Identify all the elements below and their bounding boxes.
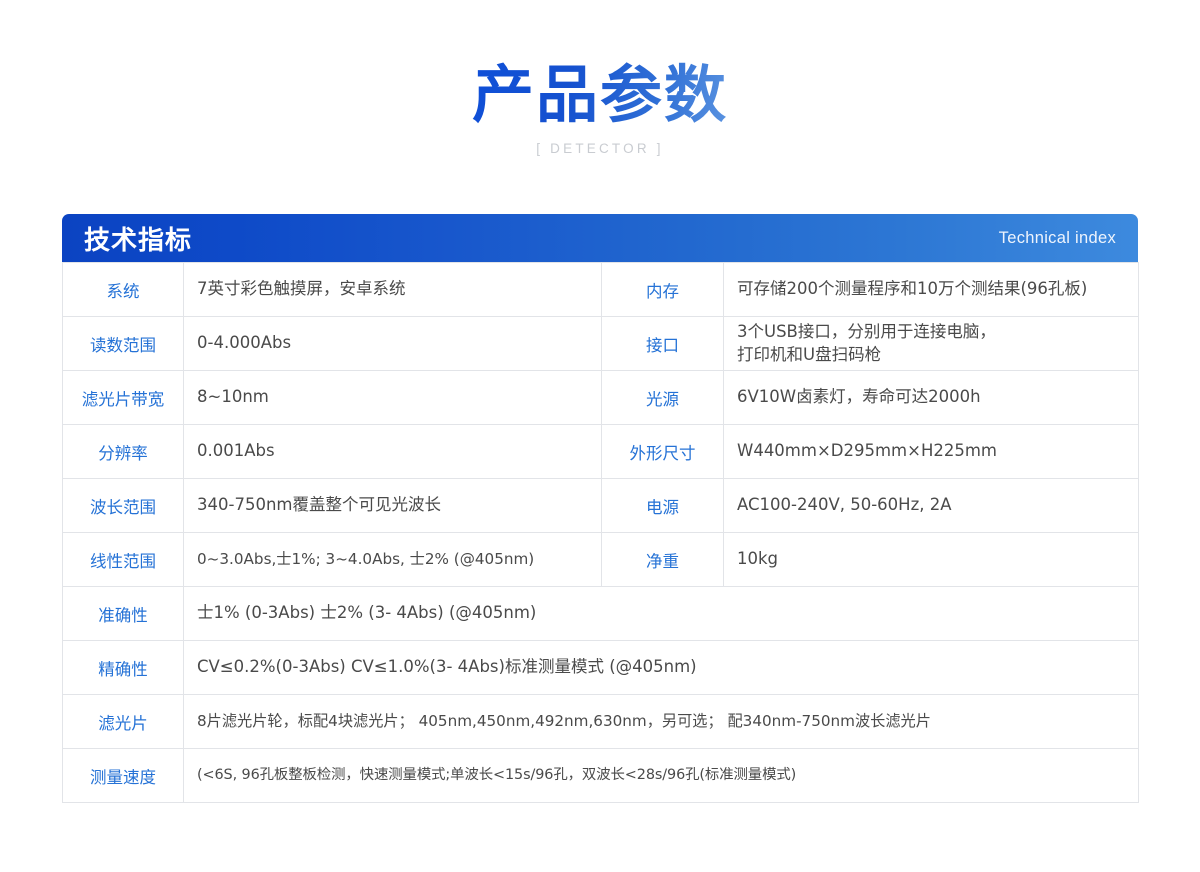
table-row: 线性范围 0~3.0Abs,士1%; 3~4.0Abs, 士2% (@405nm… <box>63 533 1139 587</box>
table-row: 精确性 CV≤0.2%(0-3Abs) CV≤1.0%(3- 4Abs)标准测量… <box>63 641 1139 695</box>
spec-label: 内存 <box>602 263 724 317</box>
spec-value: 8~10nm <box>184 371 602 425</box>
spec-label: 外形尺寸 <box>602 425 724 479</box>
spec-value: (<6S, 96孔板整板检测，快速测量模式;单波长<15s/96孔，双波长<28… <box>184 749 1139 803</box>
spec-table-banner: 技术指标 Technical index <box>62 214 1138 262</box>
spec-value: 0-4.000Abs <box>184 317 602 371</box>
page-title: 产品参数 <box>472 62 728 127</box>
spec-value: AC100-240V, 50-60Hz, 2A <box>724 479 1139 533</box>
table-row: 滤光片 8片滤光片轮，标配4块滤光片； 405nm,450nm,492nm,63… <box>63 695 1139 749</box>
spec-value-line-1: 3个USB接口，分别用于连接电脑， <box>737 321 1137 343</box>
spec-label: 精确性 <box>63 641 184 695</box>
table-row: 系统 7英寸彩色触摸屏，安卓系统 内存 可存储200个测量程序和10万个测结果(… <box>63 263 1139 317</box>
specification-table: 系统 7英寸彩色触摸屏，安卓系统 内存 可存储200个测量程序和10万个测结果(… <box>62 262 1139 803</box>
spec-label: 波长范围 <box>63 479 184 533</box>
spec-value: 340-750nm覆盖整个可见光波长 <box>184 479 602 533</box>
table-row: 滤光片带宽 8~10nm 光源 6V10W卤素灯，寿命可达2000h <box>63 371 1139 425</box>
spec-banner-title-en: Technical index <box>999 229 1116 248</box>
spec-value: 10kg <box>724 533 1139 587</box>
table-row: 读数范围 0-4.000Abs 接口 3个USB接口，分别用于连接电脑，打印机和… <box>63 317 1139 371</box>
spec-label: 准确性 <box>63 587 184 641</box>
spec-label: 接口 <box>602 317 724 371</box>
spec-label: 电源 <box>602 479 724 533</box>
spec-label: 系统 <box>63 263 184 317</box>
table-row: 测量速度 (<6S, 96孔板整板检测，快速测量模式;单波长<15s/96孔，双… <box>63 749 1139 803</box>
spec-value-line-2: 打印机和U盘扫码枪 <box>737 344 1137 366</box>
specification-table-container: 技术指标 Technical index 系统 7英寸彩色触摸屏，安卓系统 内存… <box>62 214 1138 803</box>
spec-value: 8片滤光片轮，标配4块滤光片； 405nm,450nm,492nm,630nm，… <box>184 695 1139 749</box>
page-subtitle: [ DETECTOR ] <box>0 141 1200 156</box>
table-row: 分辨率 0.001Abs 外形尺寸 W440mm×D295mm×H225mm <box>63 425 1139 479</box>
spec-value: 可存储200个测量程序和10万个测结果(96孔板) <box>724 263 1139 317</box>
spec-label: 分辨率 <box>63 425 184 479</box>
spec-banner-title-cn: 技术指标 <box>84 220 192 257</box>
spec-label: 线性范围 <box>63 533 184 587</box>
spec-value: W440mm×D295mm×H225mm <box>724 425 1139 479</box>
spec-value: CV≤0.2%(0-3Abs) CV≤1.0%(3- 4Abs)标准测量模式 (… <box>184 641 1139 695</box>
page-header: 产品参数 [ DETECTOR ] <box>0 0 1200 156</box>
table-row: 准确性 士1% (0-3Abs) 士2% (3- 4Abs) (@405nm) <box>63 587 1139 641</box>
spec-label: 读数范围 <box>63 317 184 371</box>
spec-value: 6V10W卤素灯，寿命可达2000h <box>724 371 1139 425</box>
spec-value: 0~3.0Abs,士1%; 3~4.0Abs, 士2% (@405nm) <box>184 533 602 587</box>
spec-label: 光源 <box>602 371 724 425</box>
spec-value: 3个USB接口，分别用于连接电脑，打印机和U盘扫码枪 <box>724 317 1139 371</box>
spec-label: 滤光片带宽 <box>63 371 184 425</box>
spec-label: 滤光片 <box>63 695 184 749</box>
table-row: 波长范围 340-750nm覆盖整个可见光波长 电源 AC100-240V, 5… <box>63 479 1139 533</box>
spec-value: 7英寸彩色触摸屏，安卓系统 <box>184 263 602 317</box>
spec-label: 测量速度 <box>63 749 184 803</box>
spec-value: 0.001Abs <box>184 425 602 479</box>
spec-label: 净重 <box>602 533 724 587</box>
spec-value: 士1% (0-3Abs) 士2% (3- 4Abs) (@405nm) <box>184 587 1139 641</box>
